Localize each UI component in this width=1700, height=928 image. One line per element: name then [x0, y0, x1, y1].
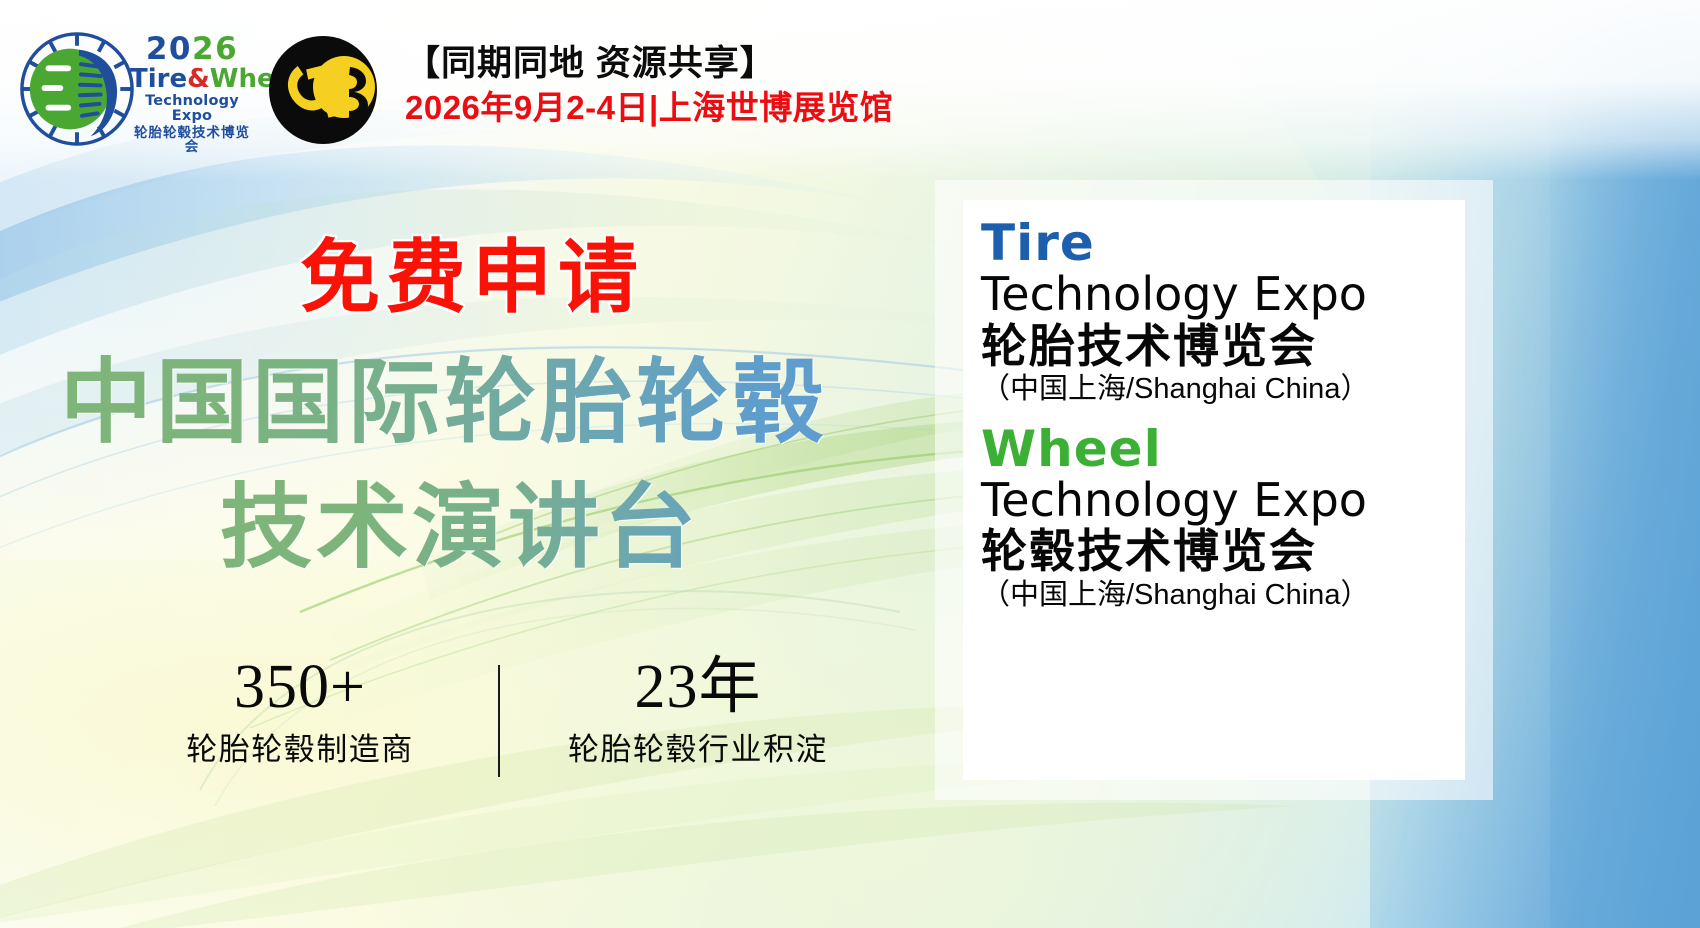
wheel-expo-cn: 轮毂技术博览会: [981, 527, 1457, 577]
logo-subtitle-cn: 轮胎轮毂技术博览会: [130, 126, 254, 153]
tire-expo-cn: 轮胎技术博览会: [981, 322, 1457, 372]
stat-label: 轮胎轮毂行业积淀: [548, 724, 848, 769]
stat-item: 350+ 轮胎轮毂制造商: [150, 655, 450, 769]
wheel-brand-word: Wheel: [981, 424, 1457, 474]
header-date-venue: 2026年9月2-4日|上海世博展览馆: [405, 89, 893, 127]
expo-block-tire: Tire Technology Expo 轮胎技术博览会 （中国上海/Shang…: [963, 218, 1465, 406]
stat-number: 350+: [150, 655, 450, 720]
main-title: 中国国际轮胎轮毂 技术演讲台: [60, 352, 940, 580]
logo-name-tire: Tire: [130, 64, 187, 94]
header-text-block: 【同期同地 资源共享】 2026年9月2-4日|上海世博展览馆: [405, 44, 893, 127]
expo-panel: Tire Technology Expo 轮胎技术博览会 （中国上海/Shang…: [963, 200, 1465, 780]
tire-wheel-emblem-icon: [18, 30, 136, 148]
logo-name: Tire&Wheel: [130, 66, 254, 92]
tire-expo-location: （中国上海/Shanghai China）: [981, 373, 1457, 405]
stats-divider: [498, 665, 500, 777]
stat-label: 轮胎轮毂制造商: [150, 724, 450, 769]
logo-name-amp: &: [187, 64, 210, 94]
logo-year-part-b: 26: [192, 31, 238, 67]
logo-subtitle-en: Technology Expo: [130, 94, 254, 123]
main-title-line-2: 技术演讲台: [220, 477, 940, 580]
tire-wheel-logo-text: 2026 Tire&Wheel Technology Expo 轮胎轮毂技术博览…: [130, 34, 254, 153]
header-tagline: 【同期同地 资源共享】: [405, 44, 893, 83]
wheel-expo-location: （中国上海/Shanghai China）: [981, 579, 1457, 611]
stats-row: 350+ 轮胎轮毂制造商 23年 轮胎轮毂行业积淀: [150, 655, 850, 777]
logo-year-part-a: 20: [146, 31, 192, 67]
tire-expo-en: Technology Expo: [981, 270, 1457, 320]
banner-header: 2026 Tire&Wheel Technology Expo 轮胎轮毂技术博览…: [0, 0, 1700, 175]
stat-number: 23年: [548, 655, 848, 720]
logo-year: 2026: [130, 34, 254, 65]
cti-expo-logo-icon: EXPO: [266, 35, 380, 149]
tire-brand-word: Tire: [981, 218, 1457, 268]
tire-wheel-expo-logo: 2026 Tire&Wheel Technology Expo 轮胎轮毂技术博览…: [18, 28, 250, 150]
expo-block-wheel: Wheel Technology Expo 轮毂技术博览会 （中国上海/Shan…: [963, 424, 1465, 612]
free-apply-headline: 免费申请: [300, 238, 644, 318]
stat-item: 23年 轮胎轮毂行业积淀: [548, 655, 848, 769]
wheel-expo-en: Technology Expo: [981, 476, 1457, 526]
promotional-banner: 2026 Tire&Wheel Technology Expo 轮胎轮毂技术博览…: [0, 0, 1700, 928]
main-title-line-1: 中国国际轮胎轮毂: [60, 352, 940, 455]
